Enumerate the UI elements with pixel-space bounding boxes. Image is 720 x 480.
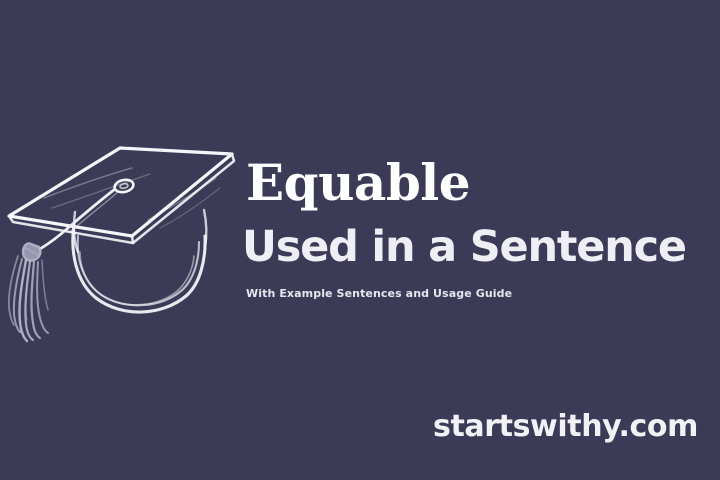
banner-headline: Used in a Sentence [242, 226, 686, 269]
vocabulary-word: Equable [246, 158, 470, 208]
tassel-cord [40, 189, 118, 249]
tassel [9, 243, 48, 341]
site-domain: startswithy.com [433, 412, 698, 442]
banner-canvas: Equable Used in a Sentence With Example … [0, 0, 720, 480]
mortarboard-group [9, 148, 234, 243]
cap-body-group [73, 210, 207, 312]
graduation-cap-illustration [0, 132, 245, 347]
banner-tagline: With Example Sentences and Usage Guide [246, 288, 512, 299]
